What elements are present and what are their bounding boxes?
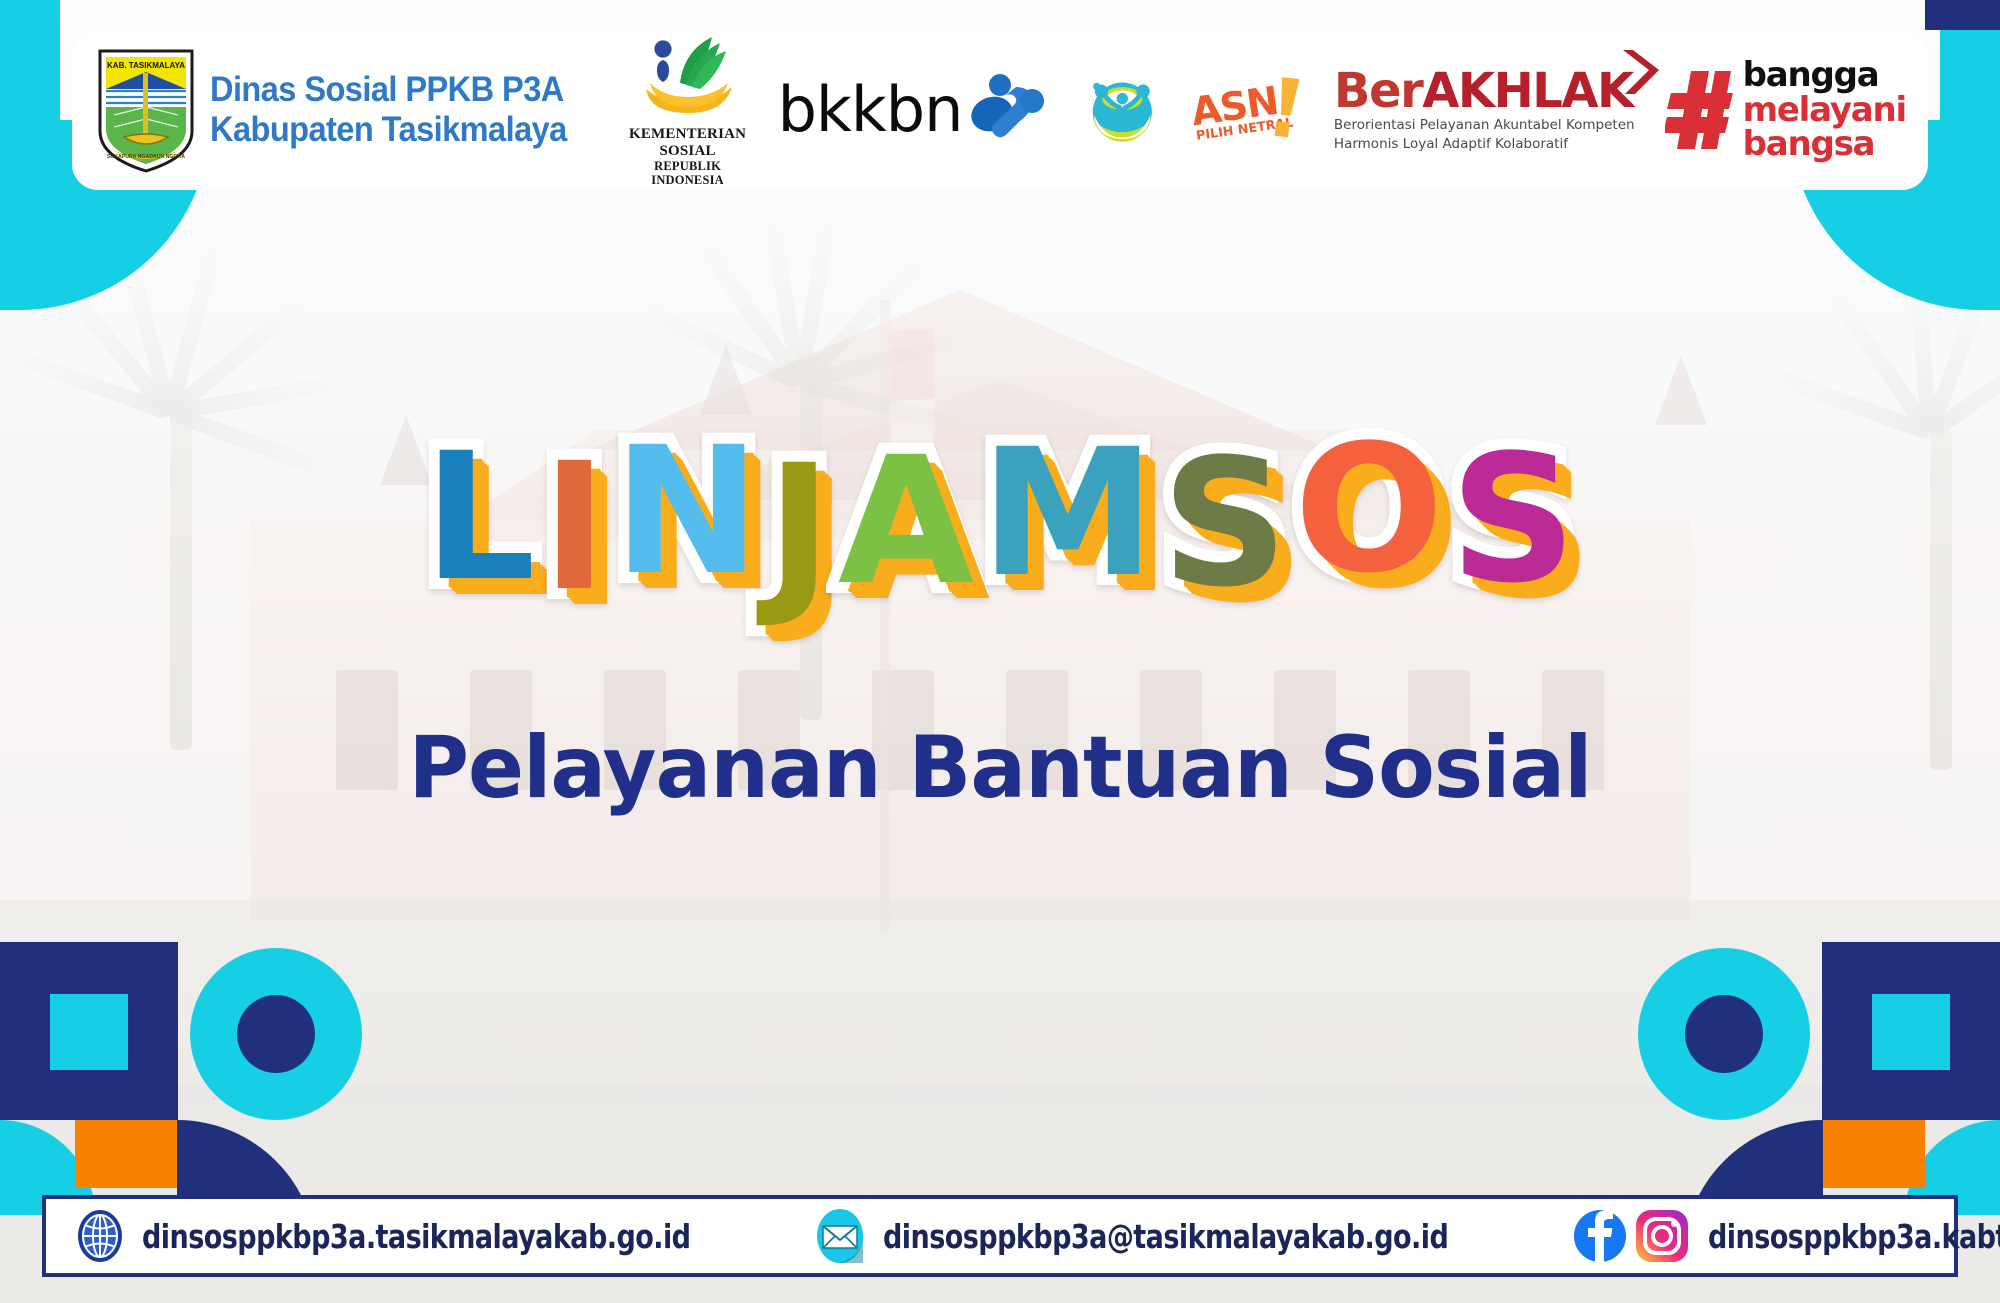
logo-kementerian-sosial: KEMENTERIAN SOSIAL REPUBLIK INDONESIA — [628, 33, 748, 188]
bangga-line3: bangsa — [1743, 127, 1906, 162]
bangga-lines: bangga melayani bangsa — [1743, 58, 1906, 162]
logo-bar: KAB. TASIKMALAYA SUKAPURA NGADAUN NGORA … — [72, 30, 1928, 190]
chevron-right-icon — [1615, 46, 1661, 98]
decor-top-left-cyan-strip — [0, 0, 60, 170]
main-title: LINJAMSOS — [0, 430, 2000, 606]
logo-dinas-sosial: KAB. TASIKMALAYA SUKAPURA NGADAUN NGORA … — [94, 45, 594, 175]
title-letter-9: S — [1450, 432, 1577, 608]
kementerian-sosial-icon — [628, 33, 748, 117]
berakhlak-tagline-1-text: Berorientasi Pelayanan Akuntabel Kompete… — [1334, 117, 1635, 133]
decor-bottom-left-orange-square — [75, 1120, 177, 1188]
kemensos-line2: REPUBLIK INDONESIA — [628, 159, 748, 187]
kabupaten-tasikmalaya-crest-icon: KAB. TASIKMALAYA SUKAPURA NGADAUN NGORA — [94, 45, 198, 175]
contact-email[interactable]: dinsosppkbp3a@tasikmalayakab.go.id — [811, 1207, 1572, 1265]
logo-asn-pilih-netral-icon: ASN PILIH NETRAL — [1185, 56, 1306, 164]
email-text: dinsosppkbp3a@tasikmalayakab.go.id — [883, 1217, 1448, 1256]
berakhlak-wordmark: BerAKHLAK — [1334, 68, 1635, 115]
contact-social[interactable]: dinsosppkbp3a.kabtasik — [1572, 1208, 2000, 1264]
subtitle: Pelayanan Bantuan Sosial — [40, 718, 1960, 818]
svg-text:KAB. TASIKMALAYA: KAB. TASIKMALAYA — [107, 61, 185, 70]
berakhlak-tagline-line2: Harmonis Loyal Adaptif Kolaboratif — [1334, 136, 1635, 152]
email-icon — [811, 1207, 869, 1265]
bkkbn-wordmark: bkkbn — [778, 79, 963, 141]
title-letter-1: L — [424, 430, 536, 606]
bangga-line2: melayani — [1743, 93, 1906, 128]
contact-bar: dinsosppkbp3a.tasikmalayakab.go.id dinso… — [42, 1195, 1958, 1277]
social-text: dinsosppkbp3a.kabtasik — [1708, 1217, 2000, 1256]
decor-bottom-right-cyan-ring — [1638, 948, 1810, 1120]
banner-root: KAB. TASIKMALAYA SUKAPURA NGADAUN NGORA … — [0, 0, 2000, 1303]
logo-bangga-melayani-bangsa: bangga melayani bangsa — [1665, 58, 1906, 162]
title-letter-7: S — [1161, 436, 1288, 612]
berakhlak-tagline-2-text: Harmonis Loyal Adaptif Kolaboratif — [1334, 136, 1568, 152]
title-letter-5: A — [838, 434, 974, 610]
decor-bottom-left-cyan-square — [50, 994, 128, 1070]
decor-bottom-left-cyan-ring — [190, 948, 362, 1120]
contact-website[interactable]: dinsosppkbp3a.tasikmalayakab.go.id — [72, 1208, 811, 1264]
website-text: dinsosppkbp3a.tasikmalayakab.go.id — [142, 1217, 690, 1256]
logo-berakhlak: BerAKHLAK Berorientasi Pelayanan Akuntab… — [1334, 68, 1635, 152]
decor-bottom-right-cyan-square — [1872, 994, 1950, 1070]
bkkbn-symbol-icon — [966, 71, 1048, 149]
title-letter-6: M — [980, 426, 1155, 602]
globe-icon — [72, 1208, 128, 1264]
org-name-line2: Kabupaten Tasikmalaya — [210, 110, 567, 150]
berakhlak-tagline-line1: Berorientasi Pelayanan Akuntabel Kompete… — [1334, 117, 1635, 133]
kemensos-line1: KEMENTERIAN SOSIAL — [629, 126, 746, 159]
berakhlak-prefix: Ber — [1334, 63, 1422, 119]
title-letter-4: J — [766, 442, 831, 618]
bangga-line1: bangga — [1743, 58, 1906, 93]
berakhlak-suffix: AKHLAK — [1422, 63, 1632, 119]
svg-text:SUKAPURA NGADAUN NGORA: SUKAPURA NGADAUN NGORA — [107, 154, 185, 160]
hashtag-icon — [1665, 67, 1737, 153]
org-name-line1: Dinas Sosial PPKB P3A — [210, 70, 567, 110]
title-letter-8: O — [1294, 422, 1444, 598]
kementerian-sosial-caption: KEMENTERIAN SOSIAL REPUBLIK INDONESIA — [628, 126, 748, 188]
decor-bottom-right-orange-square — [1823, 1120, 1925, 1188]
decor-top-right-navy-corner — [1925, 0, 2000, 30]
org-name: Dinas Sosial PPKB P3A Kabupaten Tasikmal… — [210, 70, 567, 150]
logo-bkkbn: bkkbn — [778, 71, 1049, 149]
facebook-icon — [1572, 1208, 1628, 1264]
title-letter-3: N — [613, 424, 760, 600]
instagram-icon — [1634, 1208, 1690, 1264]
logo-ramah-anak-icon — [1082, 57, 1163, 163]
title-letter-2: I — [542, 440, 607, 616]
